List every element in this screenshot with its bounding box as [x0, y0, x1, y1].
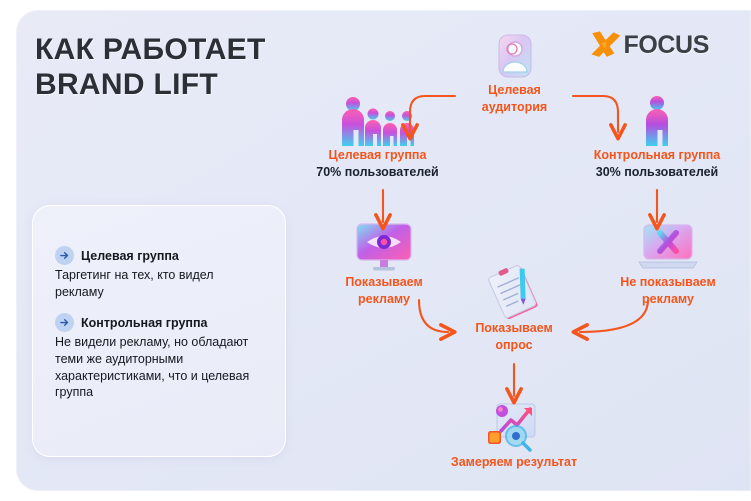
- infographic-canvas: Как работает Brand Lift FOCUS: [0, 0, 751, 501]
- flow-arrows: [0, 0, 751, 501]
- arrow-audience-to-control: [573, 96, 618, 132]
- arrow-showad-to-survey: [419, 300, 448, 332]
- arrow-audience-to-target: [410, 96, 455, 132]
- arrow-noad-to-survey: [580, 300, 648, 332]
